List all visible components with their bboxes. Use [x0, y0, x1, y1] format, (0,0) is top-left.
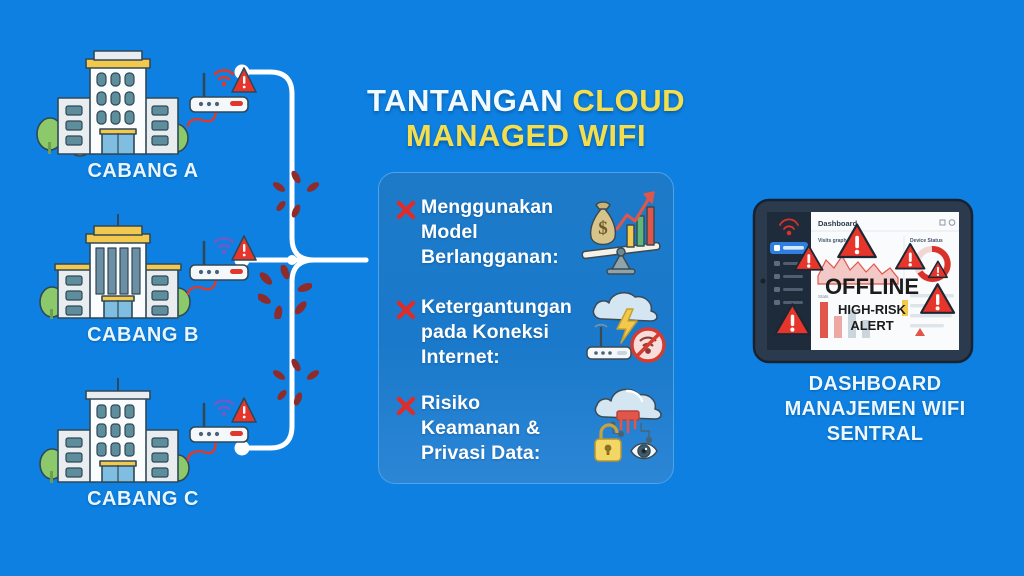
- dashboard-caption-line2: MANAJEMEN WIFI: [785, 398, 966, 420]
- red-x-icon: [395, 295, 421, 326]
- branch-b-illustration: [28, 210, 258, 320]
- branch-b: CABANG B: [18, 210, 268, 347]
- panel-title-visits: Visits graph: [818, 238, 847, 244]
- page-title: TANTANGAN CLOUD MANAGED WIFI: [340, 84, 712, 153]
- wifi-router-icon: [182, 52, 258, 136]
- challenges-card: Menggunakan Model Berlangganan:: [378, 172, 674, 484]
- dashboard-caption: DASHBOARD MANAJEMEN WIFI SENTRAL: [730, 372, 1020, 448]
- branch-a: CABANG A: [18, 46, 268, 183]
- svg-text:$: $: [598, 218, 608, 239]
- wifi-router-icon: [182, 220, 258, 304]
- overlay-alert-line2: ALERT: [850, 318, 893, 333]
- warning-triangle-icon: [232, 68, 256, 92]
- wifi-router-icon: [182, 382, 258, 466]
- challenge-item-3: Risiko Keamanan & Privasi Data:: [395, 391, 573, 465]
- dashboard-header-title: Dashboard: [818, 219, 858, 228]
- branch-b-label: CABANG B: [18, 324, 268, 347]
- challenge-item-3-text: Risiko Keamanan & Privasi Data:: [421, 391, 573, 465]
- overlay-alert-line1: HIGH-RISK: [838, 302, 907, 317]
- challenge-item-2-text: Ketergantungan pada Koneksi Internet:: [421, 295, 595, 369]
- signal-burst-icon: [272, 170, 320, 218]
- warning-triangle-icon: [232, 398, 256, 422]
- infographic-canvas: CABANG A: [0, 0, 1024, 576]
- branch-a-label: CABANG A: [18, 160, 268, 183]
- cloud-data-leak-lock-eye-icon: [583, 381, 669, 465]
- connector-junction: [287, 255, 297, 265]
- title-word-cloud: CLOUD: [572, 83, 685, 118]
- branch-c-illustration: [28, 374, 258, 484]
- signal-burst-icon: [272, 358, 320, 406]
- branch-a-illustration: [28, 46, 258, 156]
- red-x-icon: [395, 195, 421, 226]
- red-x-icon: [395, 391, 421, 422]
- panel-title-device-status: Device Status: [910, 238, 943, 244]
- challenge-item-1-text: Menggunakan Model Berlangganan:: [421, 195, 581, 269]
- tablet-device: Dashboard Visits graph Device Status Sta…: [752, 198, 974, 364]
- money-bag-growth-chart-icon: $: [577, 185, 665, 275]
- dashboard-caption-line1: DASHBOARD: [809, 373, 942, 395]
- cloud-lightning-no-wifi-icon: [583, 285, 669, 367]
- dashboard-caption-line3: SENTRAL: [827, 423, 924, 445]
- overlay-status-text: OFFLINE: [825, 274, 919, 299]
- title-word-tantangan: TANTANGAN: [367, 83, 563, 118]
- branch-c: CABANG C: [18, 374, 268, 511]
- branch-c-label: CABANG C: [18, 488, 268, 511]
- warning-triangle-icon: [232, 236, 256, 260]
- challenge-item-1: Menggunakan Model Berlangganan:: [395, 195, 581, 269]
- challenge-item-2: Ketergantungan pada Koneksi Internet:: [395, 295, 595, 369]
- title-word-managed-wifi: MANAGED WIFI: [406, 118, 646, 153]
